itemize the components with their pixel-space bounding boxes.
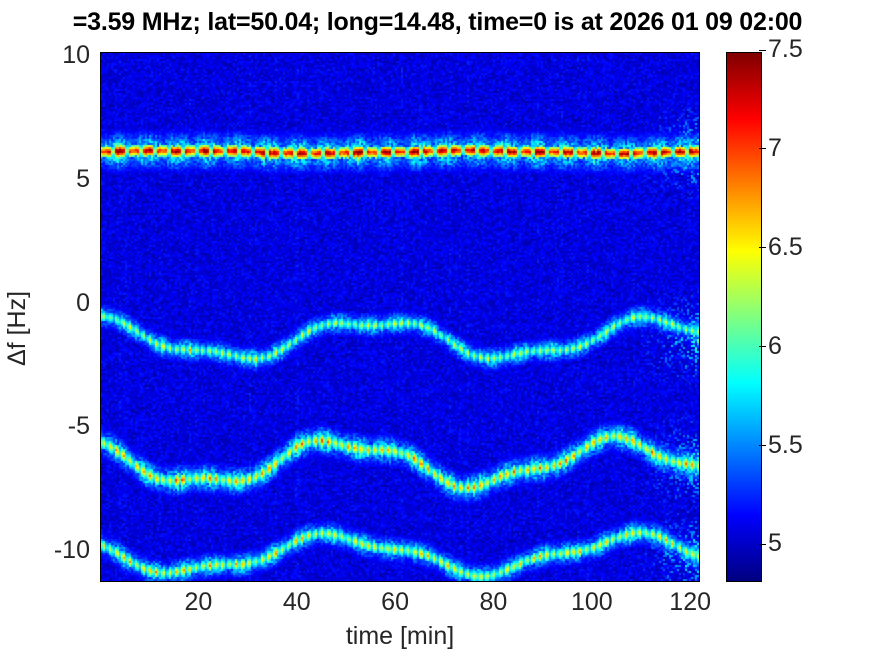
y-tick-label: 5 — [28, 165, 90, 194]
x-tick-label: 40 — [252, 588, 342, 617]
colorbar-tick-mark — [759, 445, 766, 446]
figure-canvas: =3.59 MHz; lat=50.04; long=14.48, time=0… — [0, 0, 875, 656]
y-tick-label: 0 — [28, 289, 90, 318]
colorbar-tick-mark — [759, 247, 766, 248]
colorbar-tick-label: 6.5 — [768, 233, 803, 262]
y-tick-label: -5 — [28, 412, 90, 441]
spectrogram-image — [100, 52, 700, 582]
x-tick-label: 60 — [350, 588, 440, 617]
heatmap-canvas — [101, 53, 700, 582]
y-tick-label: 10 — [28, 41, 90, 70]
x-tick-label: 80 — [448, 588, 538, 617]
x-tick-label: 120 — [645, 588, 735, 617]
colorbar-tick-mark — [759, 50, 766, 51]
colorbar-tick-label: 5.5 — [768, 431, 803, 460]
colorbar-tick-mark — [759, 346, 766, 347]
colorbar — [726, 52, 762, 582]
x-tick-label: 100 — [547, 588, 637, 617]
figure-title: =3.59 MHz; lat=50.04; long=14.48, time=0… — [0, 8, 875, 37]
colorbar-tick-label: 7.5 — [768, 35, 803, 64]
colorbar-tick-mark — [759, 544, 766, 545]
colorbar-tick-mark — [759, 148, 766, 149]
colorbar-tick-label: 5 — [768, 529, 782, 558]
colorbar-gradient — [727, 53, 761, 581]
x-tick-label: 20 — [153, 588, 243, 617]
colorbar-tick-label: 7 — [768, 134, 782, 163]
colorbar-tick-label: 6 — [768, 332, 782, 361]
x-axis-label: time [min] — [100, 622, 700, 651]
y-tick-label: -10 — [28, 536, 90, 565]
